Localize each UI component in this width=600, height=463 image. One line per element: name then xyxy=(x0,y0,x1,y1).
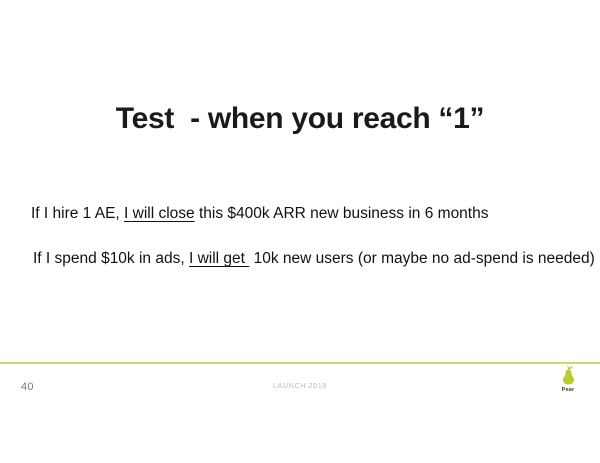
body-line-text-after: this $400k ARR new business in 6 months xyxy=(195,205,489,222)
pear-icon xyxy=(560,365,577,386)
body-line-emphasis: I will close xyxy=(124,205,195,222)
page-title: Test - when you reach “1” xyxy=(0,100,600,138)
logo-wordmark: Pear xyxy=(551,387,585,393)
body-line-text-after: 10k new users (or maybe no ad-spend is n… xyxy=(249,250,595,267)
body-line: If I hire 1 AE, I will close this $400k … xyxy=(0,203,600,225)
footer-brand-text: LAUNCH 2019 xyxy=(0,383,600,390)
slide-canvas: Test - when you reach “1” If I hire 1 AE… xyxy=(0,0,600,463)
slide-body: If I hire 1 AE, I will close this $400k … xyxy=(0,203,600,270)
body-line-text-before: If I hire 1 AE, xyxy=(31,205,124,222)
body-line-text-before: If I spend $10k in ads, xyxy=(33,250,189,267)
footer-divider xyxy=(0,362,600,364)
body-line-emphasis: I will get xyxy=(189,250,249,267)
pear-logo: Pear xyxy=(551,365,585,399)
body-line: If I spend $10k in ads, I will get 10k n… xyxy=(0,248,600,270)
